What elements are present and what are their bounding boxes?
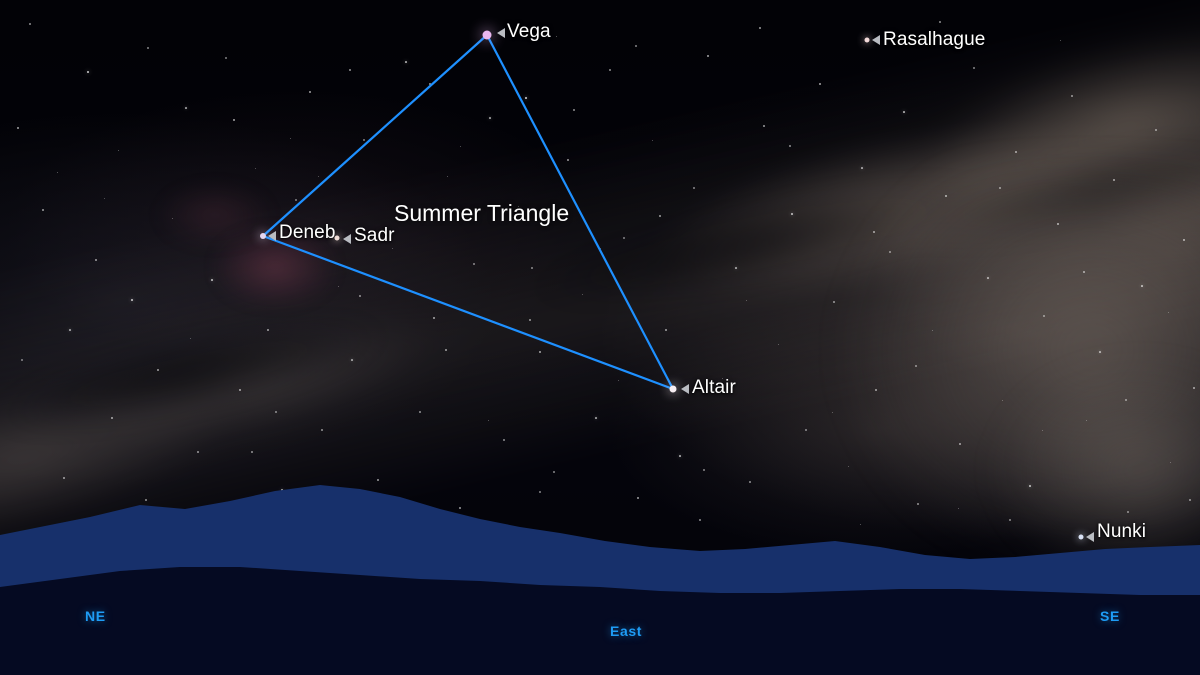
star-label-deneb[interactable]: Deneb xyxy=(279,222,336,244)
compass-label-east: East xyxy=(610,623,642,639)
star-pointer-icon-altair xyxy=(681,384,689,394)
star-dot-deneb[interactable] xyxy=(260,233,266,239)
asterism-label-summer-triangle: Summer Triangle xyxy=(394,200,569,227)
star-label-rasalhague[interactable]: Rasalhague xyxy=(883,29,985,51)
star-chart-view[interactable]: VegaRasalhagueDenebSadrAltairNunki Summe… xyxy=(0,0,1200,675)
star-label-altair[interactable]: Altair xyxy=(692,377,736,399)
compass-label-se: SE xyxy=(1100,608,1120,624)
star-pointer-icon-rasalhague xyxy=(872,35,880,45)
star-label-vega[interactable]: Vega xyxy=(507,21,551,43)
star-pointer-icon-deneb xyxy=(268,231,276,241)
compass-label-ne: NE xyxy=(85,608,106,624)
horizon-silhouette xyxy=(0,475,1200,675)
asterism-line-deneb-altair xyxy=(263,236,673,389)
star-dot-altair[interactable] xyxy=(670,386,677,393)
star-dot-vega[interactable] xyxy=(483,31,492,40)
star-dot-sadr[interactable] xyxy=(335,236,340,241)
star-pointer-icon-sadr xyxy=(343,234,351,244)
star-dot-rasalhague[interactable] xyxy=(865,38,870,43)
star-pointer-icon-vega xyxy=(497,28,505,38)
star-label-sadr[interactable]: Sadr xyxy=(354,225,395,247)
